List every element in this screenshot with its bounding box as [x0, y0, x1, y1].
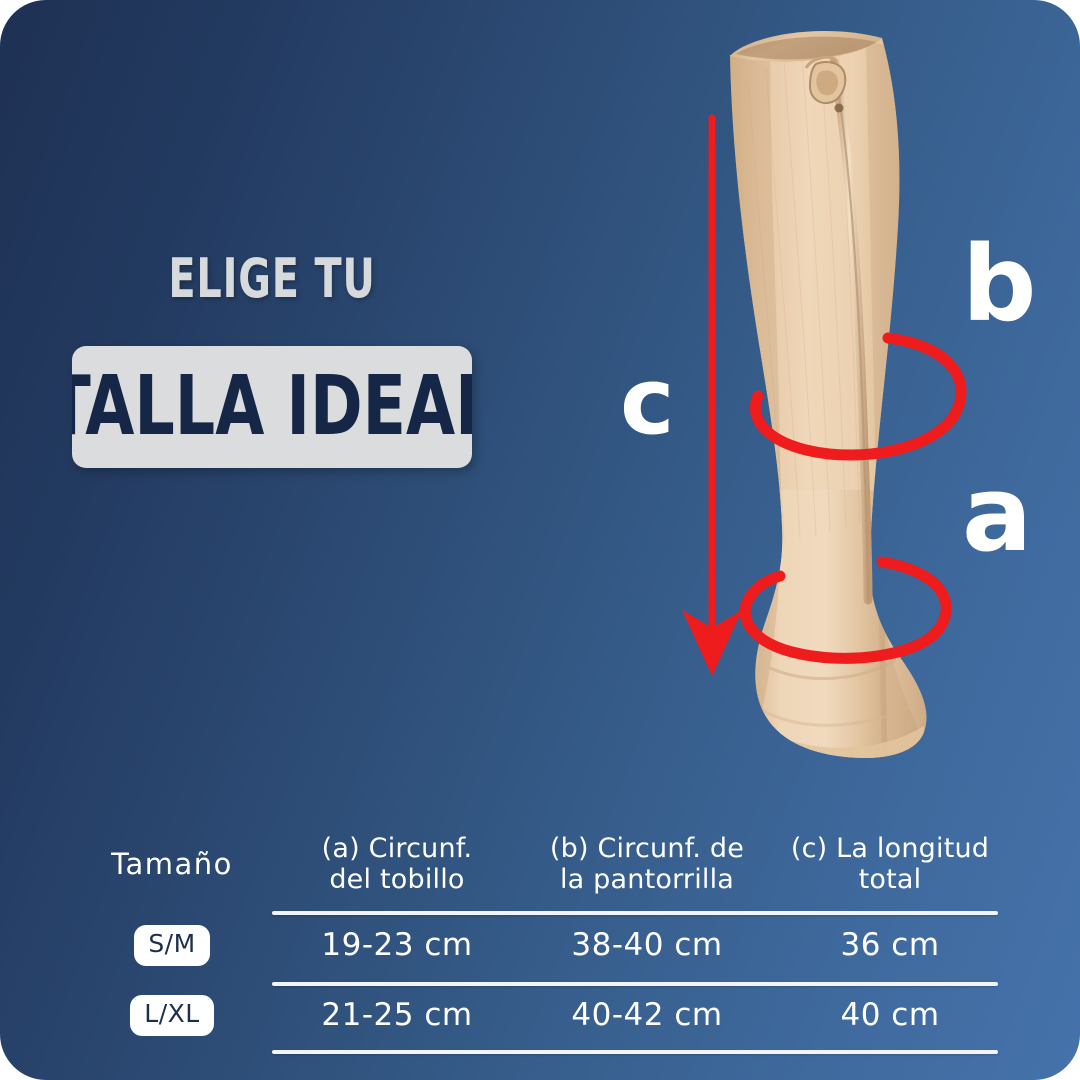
table-row: S/M 19-23 cm 38-40 cm 36 cm: [72, 910, 1008, 980]
size-cell: L/XL: [72, 980, 272, 1050]
table-row: L/XL 21-25 cm 40-42 cm 40 cm: [72, 980, 1008, 1050]
table-divider-bottom: [272, 1050, 998, 1054]
column-header-ankle: (a) Circunf. del tobillo: [272, 820, 522, 910]
size-table-container: Tamaño (a) Circunf. del tobillo (b) Circ…: [0, 820, 1080, 1080]
column-header-ankle-line1: (a) Circunf.: [322, 833, 473, 864]
measure-label-c: c: [620, 356, 675, 448]
calf-cell: 40-42 cm: [522, 980, 772, 1050]
status-badge: L/XL: [130, 995, 213, 1036]
column-header-length-line1: (c) La longitud: [791, 833, 989, 864]
column-header-size: Tamaño: [72, 820, 272, 910]
ankle-cell: 19-23 cm: [272, 910, 522, 980]
length-cell: 36 cm: [772, 910, 1008, 980]
column-header-calf: (b) Circunf. de la pantorrilla: [522, 820, 772, 910]
page-title: TALLA IDEAL: [72, 366, 472, 448]
column-header-calf-line2: la pantorrilla: [560, 864, 734, 895]
size-guide-card: ELIGE TU TALLA IDEAL: [0, 0, 1080, 1080]
length-cell: 40 cm: [772, 980, 1008, 1050]
column-header-length: (c) La longitud total: [772, 820, 1008, 910]
title-band: TALLA IDEAL: [72, 346, 472, 468]
eyebrow-text: ELIGE TU: [108, 252, 436, 306]
column-header-ankle-line2: del tobillo: [329, 864, 464, 895]
column-header-calf-line1: (b) Circunf. de: [550, 833, 744, 864]
status-badge: S/M: [134, 925, 209, 966]
measure-label-b: b: [962, 232, 1036, 336]
calf-cell: 38-40 cm: [522, 910, 772, 980]
size-table: Tamaño (a) Circunf. del tobillo (b) Circ…: [72, 820, 1008, 1050]
length-arrow-down-icon: [676, 100, 756, 700]
size-cell: S/M: [72, 910, 272, 980]
heading-block: ELIGE TU TALLA IDEAL: [72, 252, 472, 468]
column-header-length-line2: total: [859, 864, 922, 895]
ankle-cell: 21-25 cm: [272, 980, 522, 1050]
table-header-row: Tamaño (a) Circunf. del tobillo (b) Circ…: [72, 820, 1008, 910]
measure-label-a: a: [962, 462, 1032, 566]
